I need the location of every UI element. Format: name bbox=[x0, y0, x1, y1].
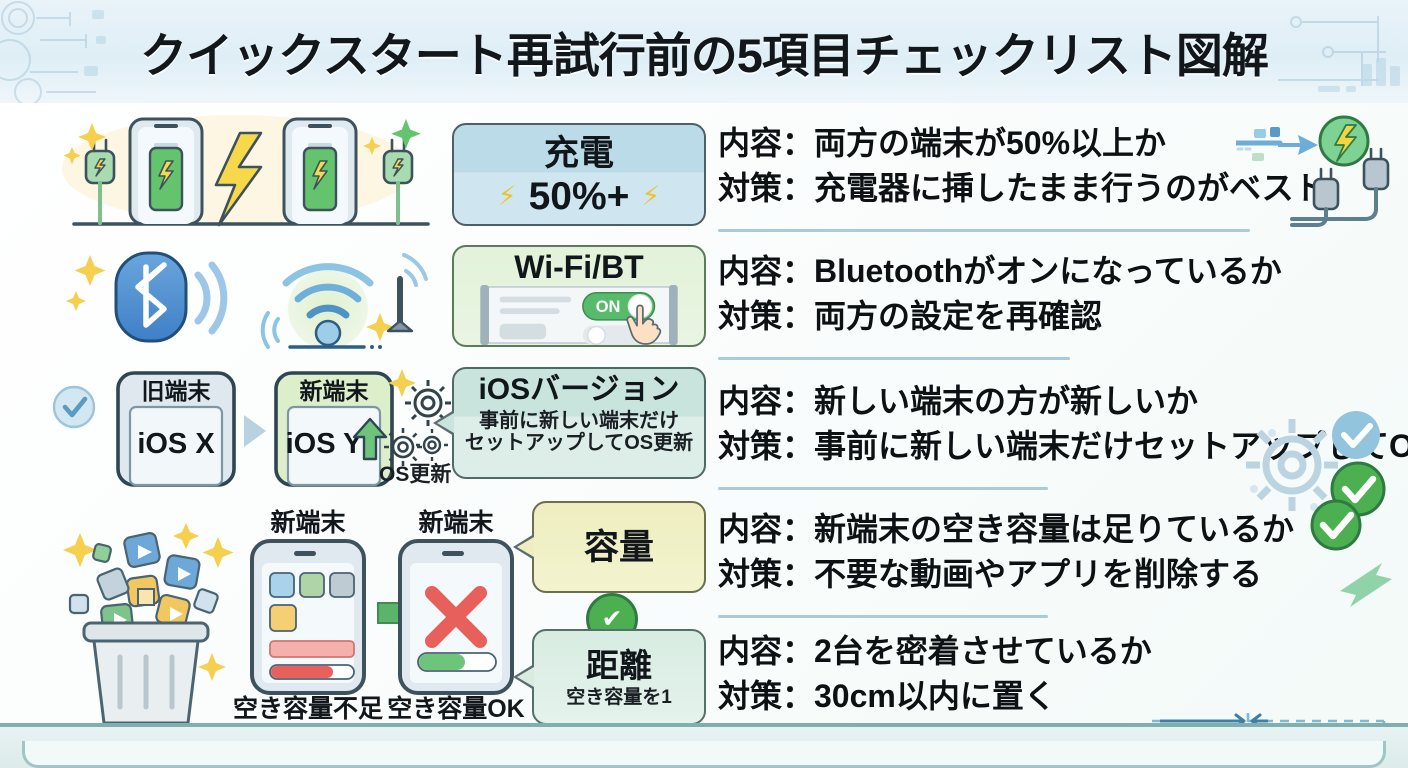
wifi-bt-content-line: 内容：Bluetoothがオンになっているか bbox=[718, 249, 1282, 294]
wifi-bt-illustration bbox=[50, 235, 450, 357]
card-capacity-tail-fill bbox=[517, 537, 534, 557]
distance-content-line: 内容：2台を密着させているか bbox=[718, 629, 1152, 674]
os-update-caption: OS更新 bbox=[379, 458, 451, 488]
text-charge: 内容：両方の端末が50%以上か 対策：充電器に挿したまま行うのがベスト bbox=[718, 121, 1326, 212]
row-ios-version: 旧端末 iOS X 新端末 iOS Y bbox=[0, 361, 1408, 491]
row-capacity: 新端末 空き容量不足 新端末 bbox=[0, 493, 1408, 633]
svg-text:iOS X: iOS X bbox=[137, 428, 215, 460]
bottom-shelf bbox=[0, 723, 1408, 768]
card-ios-subtitle-line2: セットアップしてOS更新 bbox=[465, 433, 693, 455]
card-wifi-bt-title: Wi-Fi/BT bbox=[514, 251, 643, 283]
content-board: 充電 ⚡ 50%+ ⚡ 内容：両方の端末が50%以上か 対策：充電器に挿したまま… bbox=[0, 103, 1408, 723]
svg-text:iOS Y: iOS Y bbox=[286, 428, 363, 460]
charge-right-decor bbox=[1236, 109, 1408, 231]
charge-action-line: 対策：充電器に挿したまま行うのがベスト bbox=[718, 166, 1326, 211]
text-wifi-bt: 内容：Bluetoothがオンになっているか 対策：両方の設定を再確認 bbox=[718, 249, 1282, 340]
card-ios-subtitle-line1: 事前に新しい端末だけ bbox=[479, 411, 679, 433]
card-ios-tail-fill bbox=[437, 413, 454, 433]
svg-text:新端末: 新端末 bbox=[270, 508, 345, 537]
card-ios-version[interactable]: iOSバージョン 事前に新しい端末だけ セットアップしてOS更新 bbox=[452, 367, 706, 479]
row-wifi-bt: Wi-Fi/BT ON bbox=[0, 231, 1408, 359]
card-capacity[interactable]: 容量 bbox=[532, 501, 706, 593]
card-distance-tail-fill bbox=[517, 667, 534, 687]
divider-ios-version bbox=[718, 487, 1048, 490]
card-distance[interactable]: 距離 空き容量を1 bbox=[532, 629, 706, 725]
charge-content-line: 内容：両方の端末が50%以上か bbox=[718, 121, 1326, 166]
svg-text:新端末: 新端末 bbox=[418, 508, 493, 537]
svg-text:ON: ON bbox=[596, 298, 621, 316]
page-title: クイックスタート再試行前の5項目チェックリスト図解 bbox=[0, 0, 1408, 103]
card-wifi-bt[interactable]: Wi-Fi/BT ON bbox=[452, 245, 706, 347]
row-distance: 距離 空き容量を1 内容：2台を密着させているか 対策：30cm以内に置く bbox=[0, 621, 1408, 731]
wifi-bt-action-line: 対策：両方の設定を再確認 bbox=[718, 294, 1282, 339]
divider-capacity bbox=[718, 615, 1048, 618]
card-capacity-title: 容量 bbox=[584, 530, 654, 565]
card-charge-value: 50%+ bbox=[529, 177, 630, 216]
capacity-right-decor bbox=[1290, 499, 1408, 609]
card-distance-subtitle: 空き容量を1 bbox=[566, 688, 672, 709]
capacity-content-line: 内容：新端末の空き容量は足りているか bbox=[718, 507, 1294, 552]
infographic-canvas: クイックスタート再試行前の5項目チェックリスト図解 bbox=[0, 0, 1408, 768]
card-charge[interactable]: 充電 ⚡ 50%+ ⚡ bbox=[452, 123, 706, 226]
text-capacity: 内容：新端末の空き容量は足りているか 対策：不要な動画やアプリを削除する bbox=[718, 507, 1294, 598]
distance-action-line: 対策：30cm以内に置く bbox=[718, 674, 1152, 719]
header-banner: クイックスタート再試行前の5項目チェックリスト図解 bbox=[0, 0, 1408, 103]
svg-text:旧端末: 旧端末 bbox=[142, 378, 212, 404]
capacity-action-line: 対策：不要な動画やアプリを削除する bbox=[718, 552, 1294, 597]
text-distance: 内容：2台を密着させているか 対策：30cm以内に置く bbox=[718, 629, 1152, 720]
settings-toggle-illustration[interactable]: ON bbox=[461, 285, 697, 345]
bolt-icon-right: ⚡ bbox=[641, 181, 660, 212]
card-charge-title: 充電 bbox=[544, 136, 614, 171]
svg-text:新端末: 新端末 bbox=[300, 378, 370, 404]
divider-wifi-bt bbox=[718, 357, 1070, 360]
row-charge: 充電 ⚡ 50%+ ⚡ 内容：両方の端末が50%以上か 対策：充電器に挿したまま… bbox=[0, 103, 1408, 233]
charge-illustration bbox=[50, 111, 450, 231]
card-ios-version-title: iOSバージョン bbox=[478, 375, 679, 405]
card-distance-title: 距離 bbox=[586, 649, 652, 682]
bolt-icon-left: ⚡ bbox=[498, 181, 517, 212]
